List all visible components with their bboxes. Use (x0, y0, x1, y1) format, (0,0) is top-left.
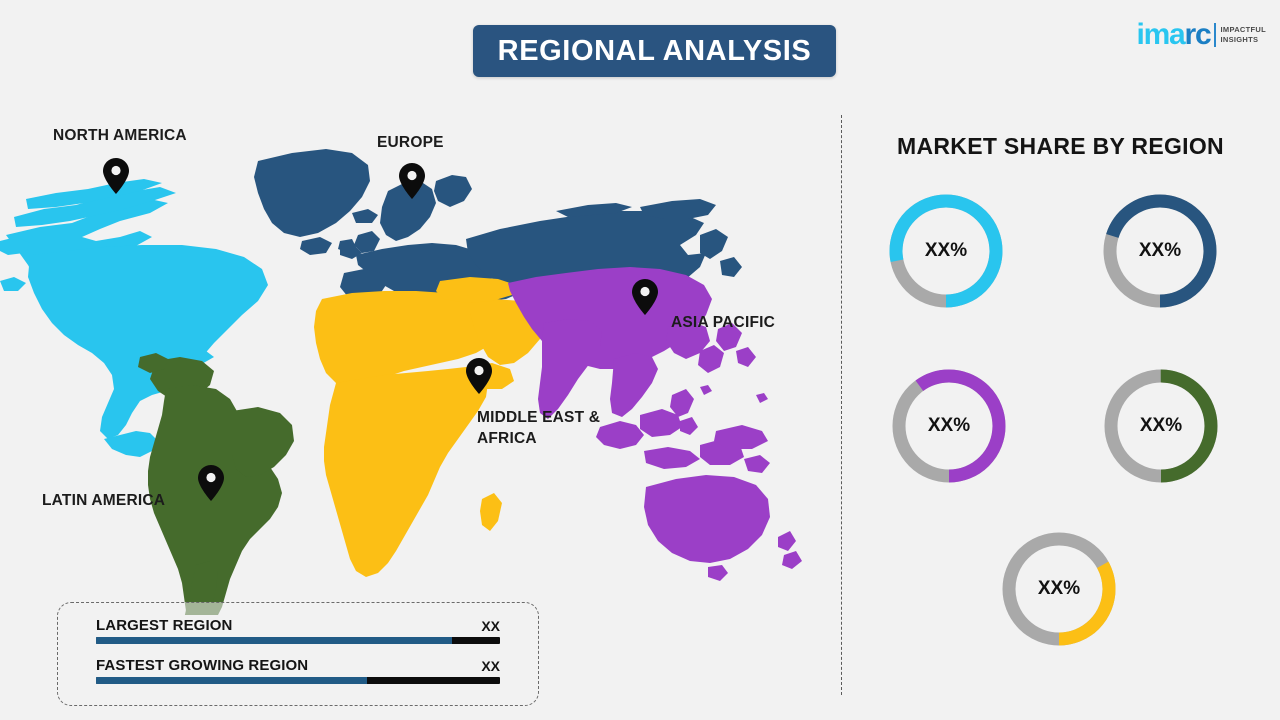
map-label-latin-america: LATIN AMERICA (42, 491, 165, 512)
summary-row-fastest-growing-region: FASTEST GROWING REGION XX (96, 657, 500, 684)
region-summary-box: LARGEST REGION XX FASTEST GROWING REGION… (57, 602, 539, 706)
donut-value-label: XX% (998, 528, 1120, 650)
map-label-europe: EUROPE (377, 133, 444, 154)
summary-row-fill (96, 677, 367, 684)
summary-row-track (96, 677, 500, 684)
logo-tagline: IMPACTFUL INSIGHTS (1221, 25, 1266, 45)
logo-divider (1214, 23, 1216, 47)
map-pin-latin-america[interactable] (198, 465, 224, 501)
donut-value-label: XX% (888, 365, 1010, 487)
logo-wordmark: imarc (1136, 20, 1210, 50)
summary-row-fill (96, 637, 452, 644)
donut-panel-title: MARKET SHARE BY REGION (841, 133, 1280, 160)
summary-row-label: FASTEST GROWING REGION (96, 657, 308, 674)
donut-value-label: XX% (1099, 190, 1221, 312)
donut-value-label: XX% (885, 190, 1007, 312)
summary-row-track (96, 637, 500, 644)
imarc-logo: imarc IMPACTFUL INSIGHTS (1136, 20, 1266, 50)
map-pin-asia-pacific[interactable] (632, 279, 658, 315)
summary-row-value: XX (481, 618, 500, 634)
logo-tagline-line2: INSIGHTS (1221, 35, 1266, 45)
page-title: REGIONAL ANALYSIS (498, 35, 812, 68)
map-pin-north-america[interactable] (103, 158, 129, 194)
infographic-canvas: REGIONAL ANALYSIS imarc IMPACTFUL INSIGH… (0, 0, 1280, 720)
summary-row-largest-region: LARGEST REGION XX (96, 617, 500, 644)
map-label-middle-east-africa: MIDDLE EAST & AFRICA (477, 408, 600, 450)
page-title-banner: REGIONAL ANALYSIS (473, 25, 836, 77)
logo-word-part-a: ima (1136, 18, 1184, 51)
panel-divider (841, 115, 842, 695)
donut-chart-north-america: XX% (885, 190, 1007, 312)
summary-row-value: XX (481, 658, 500, 674)
logo-tagline-line1: IMPACTFUL (1221, 25, 1266, 35)
map-label-north-america: NORTH AMERICA (53, 126, 187, 147)
map-label-asia-pacific: ASIA PACIFIC (671, 313, 775, 334)
donut-chart-asia-pacific: XX% (888, 365, 1010, 487)
logo-word-part-b: rc (1185, 18, 1211, 51)
donut-chart-europe: XX% (1099, 190, 1221, 312)
summary-row-label: LARGEST REGION (96, 617, 232, 634)
donut-chart-latin-america: XX% (1100, 365, 1222, 487)
map-pin-europe[interactable] (399, 163, 425, 199)
donut-value-label: XX% (1100, 365, 1222, 487)
donut-chart-middle-east-africa: XX% (998, 528, 1120, 650)
map-pin-middle-east-africa[interactable] (466, 358, 492, 394)
